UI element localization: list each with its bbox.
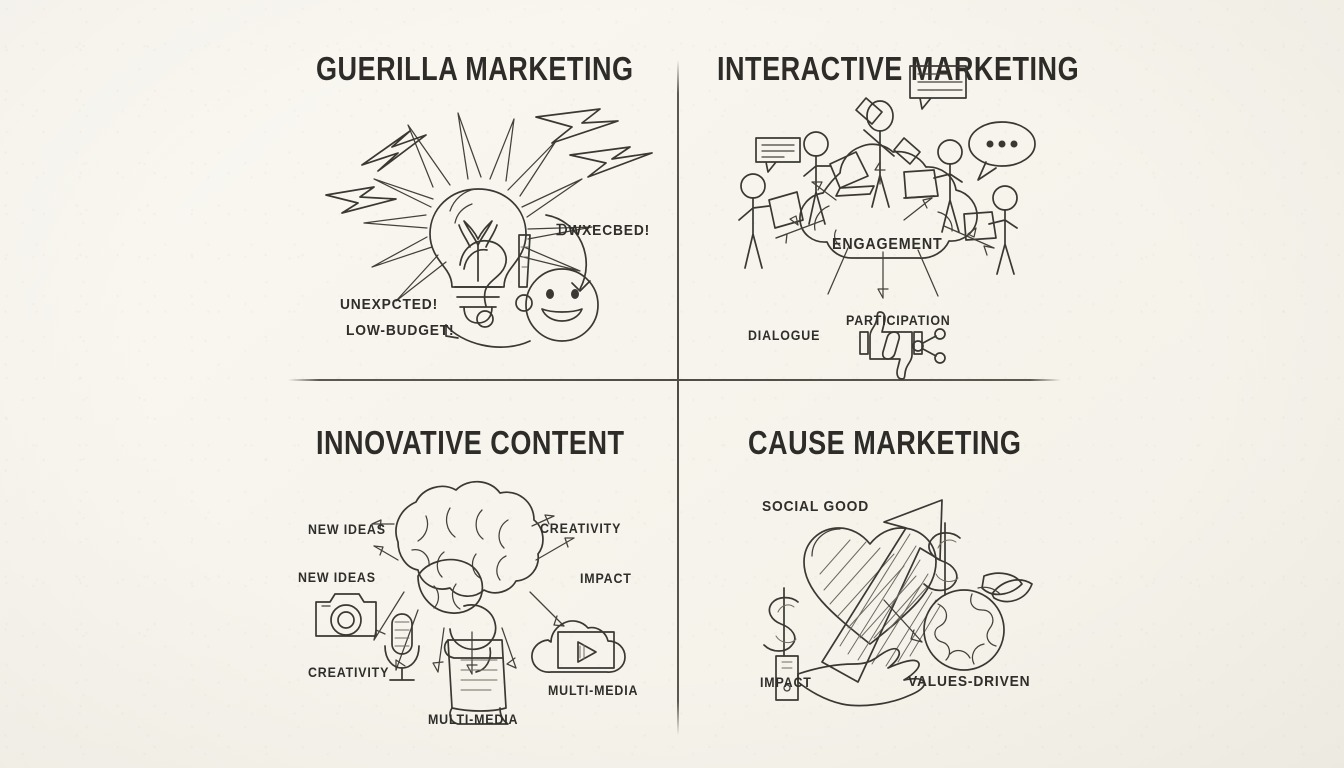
speech-bubble-dots-icon — [969, 122, 1035, 180]
person-with-laptop-icon — [904, 140, 962, 232]
new-ideas-label-2: NEW IDEAS — [298, 570, 376, 585]
globe-leaf-icon — [924, 573, 1032, 670]
multi-media-label-2: MULTI-MEDIA — [548, 683, 638, 698]
quadrant-title-interactive-marketing: INTERACTIVE MARKETING — [717, 50, 1079, 88]
creativity-label-1: CREATIVITY — [540, 521, 621, 536]
dollar-sign-icon — [764, 588, 798, 656]
smiley-face-icon — [526, 269, 598, 341]
low-budget-label: LOW-BUDGET! — [346, 322, 454, 339]
participation-label: PARTICIPATION — [846, 313, 951, 328]
multi-media-label-1: MULTI-MEDIA — [428, 712, 518, 727]
lightbulb-icon — [430, 189, 526, 323]
social-good-label: SOCIAL GOOD — [762, 498, 869, 515]
new-ideas-label-1: NEW IDEAS — [308, 522, 386, 537]
lightning-bolt-icon — [326, 109, 652, 213]
question-mark-icon — [460, 241, 506, 327]
impact-label-innovative: IMPACT — [580, 571, 632, 586]
person-with-tablet-icon — [739, 138, 803, 268]
garbled-label: ᗪWXECBED! — [556, 222, 650, 239]
share-icon — [913, 329, 945, 363]
microphone-icon — [385, 614, 419, 680]
quadrant-title-guerilla-marketing: GUERILLA MARKETING — [316, 50, 634, 88]
creativity-label-2: CREATIVITY — [308, 665, 389, 680]
values-driven-label: VALUES-DRIVEN — [908, 673, 1030, 690]
dialogue-label: DIALOGUE — [748, 328, 820, 343]
impact-label-cause: IMPACT — [760, 675, 812, 690]
brain-icon — [396, 482, 543, 672]
engagement-label: ENGAGEMENT — [832, 236, 942, 254]
camera-icon — [316, 594, 376, 636]
infographic-canvas: GUERILLA MARKETING — [0, 0, 1344, 768]
unexpected-label: UNEXPCTED! — [340, 296, 438, 313]
video-cloud-icon — [532, 621, 625, 672]
quadrant-title-cause-marketing: CAUSE MARKETING — [748, 424, 1021, 462]
quadrant-title-innovative-content: INNOVATIVE CONTENT — [316, 424, 625, 462]
